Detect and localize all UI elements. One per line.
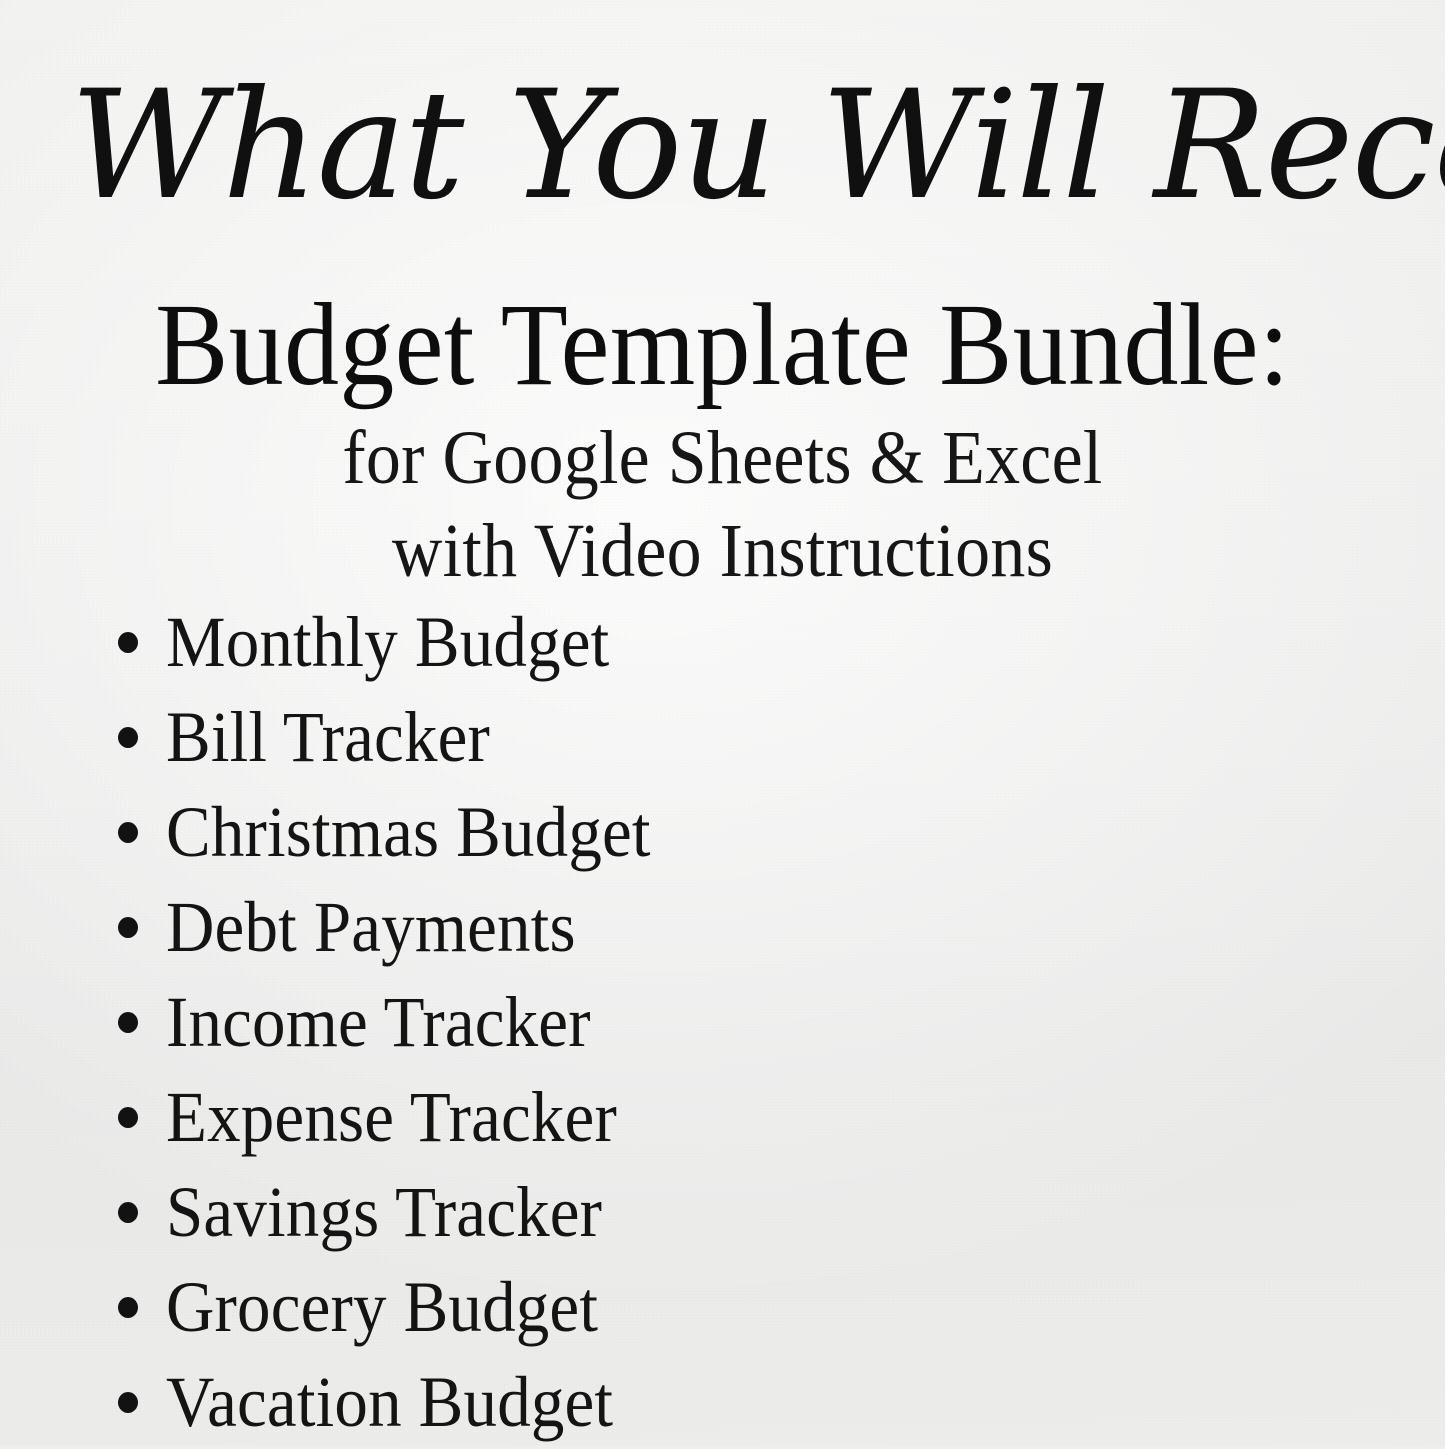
bullet-dot-icon <box>118 1297 138 1318</box>
list-item: Expense Tracker <box>0 1069 1445 1164</box>
bullet-dot-icon <box>118 822 138 843</box>
script-heading-svg: What You Will Receive: <box>70 52 1370 242</box>
feature-list: Monthly Budget Bill Tracker Christmas Bu… <box>0 594 1445 1449</box>
list-item: Bill Tracker <box>0 689 1445 784</box>
list-item-label: Debt Payments <box>166 891 576 963</box>
bullet-dot-icon <box>118 727 138 748</box>
list-item: Vacation Budget <box>0 1354 1445 1449</box>
list-item-label: Savings Tracker <box>166 1176 602 1248</box>
product-listing-graphic: What You Will Receive: Budget Template B… <box>0 0 1445 1445</box>
list-item: Debt Payments <box>0 879 1445 974</box>
script-heading: What You Will Receive: <box>70 52 1370 242</box>
bullet-dot-icon <box>118 632 138 653</box>
list-item: Christmas Budget <box>0 784 1445 879</box>
bullet-dot-icon <box>118 1202 138 1223</box>
script-heading-text: What You Will Receive: <box>70 59 1445 233</box>
list-item-label: Monthly Budget <box>166 606 609 678</box>
list-item: Monthly Budget <box>0 594 1445 689</box>
bullet-dot-icon <box>118 1107 138 1128</box>
list-item-label: Income Tracker <box>166 986 591 1058</box>
list-item: Grocery Budget <box>0 1259 1445 1354</box>
subtitle-video-instructions: with Video Instructions <box>58 505 1387 598</box>
list-item-label: Bill Tracker <box>166 701 490 773</box>
page-title: Budget Template Bundle: <box>51 286 1395 404</box>
bullet-dot-icon <box>118 1392 138 1413</box>
bullet-dot-icon <box>118 917 138 938</box>
list-item: Savings Tracker <box>0 1164 1445 1259</box>
list-item-label: Grocery Budget <box>166 1271 598 1343</box>
bullet-dot-icon <box>118 1012 138 1033</box>
subtitle-platforms: for Google Sheets & Excel <box>58 412 1387 505</box>
list-item: Income Tracker <box>0 974 1445 1069</box>
list-item-label: Christmas Budget <box>166 796 651 868</box>
list-item-label: Expense Tracker <box>166 1081 617 1153</box>
subtitle-block: for Google Sheets & Excel with Video Ins… <box>0 412 1445 597</box>
list-item-label: Vacation Budget <box>166 1366 613 1438</box>
